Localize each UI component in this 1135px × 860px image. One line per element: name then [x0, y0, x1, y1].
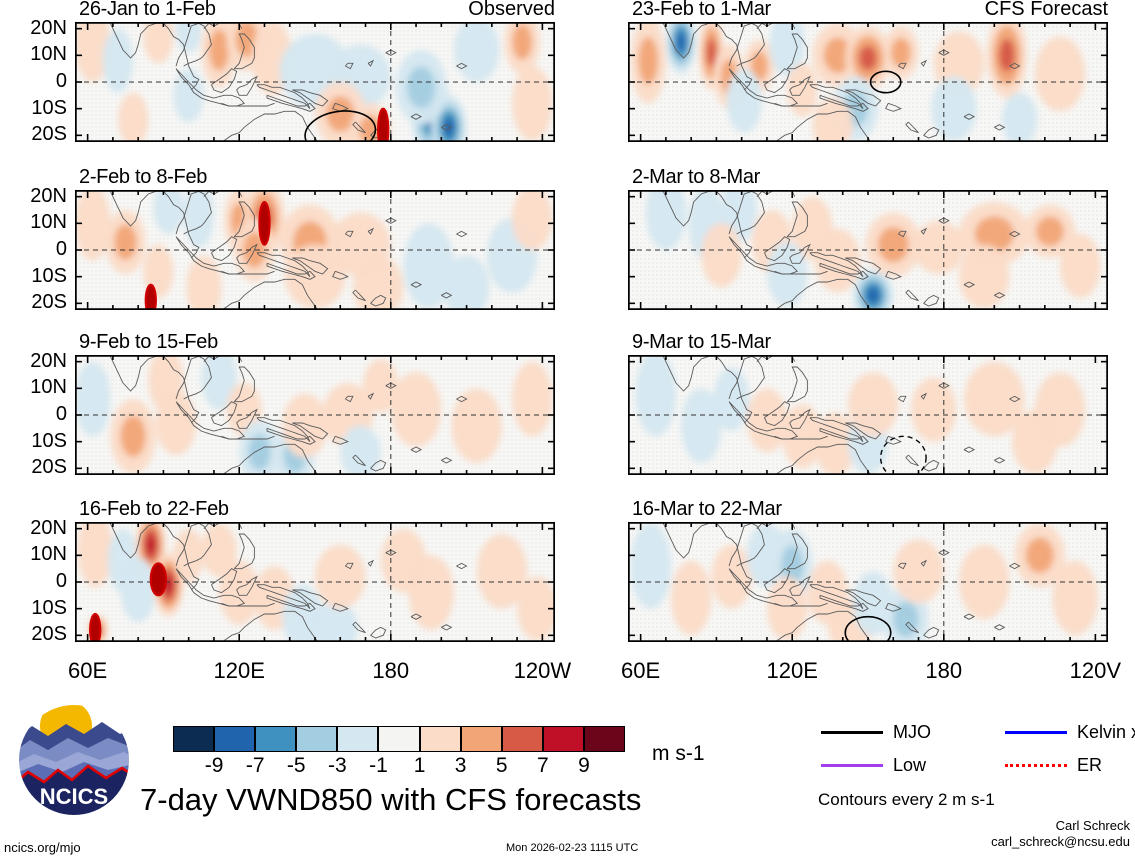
legend-line-er: [1005, 764, 1067, 767]
y-tick-label: 20N: [0, 350, 67, 373]
colorbar-swatch: [214, 726, 255, 752]
y-tick-label: 10N: [0, 543, 67, 566]
x-tick-label: 180: [902, 658, 986, 684]
colorbar-swatch: [378, 726, 419, 752]
x-tick-label: 120V: [1053, 658, 1135, 684]
y-tick-label: 20N: [0, 517, 67, 540]
colorbar-swatch: [337, 726, 378, 752]
y-tick-label: 0: [0, 403, 67, 426]
x-tick-label: 60E: [599, 658, 683, 684]
legend-label: ER: [1077, 755, 1102, 776]
colorbar-swatch: [296, 726, 337, 752]
map-panel: [75, 22, 555, 142]
x-tick-label: 180: [349, 658, 433, 684]
er-contour: [90, 614, 100, 642]
colorbar-units: m s-1: [652, 742, 705, 766]
legend-line-kelvin-x2: [1005, 731, 1067, 734]
y-tick-label: 0: [0, 238, 67, 261]
y-tick-label: 20N: [0, 185, 67, 208]
y-tick-label: 0: [0, 570, 67, 593]
map-panel: [75, 190, 555, 310]
panel-title: 9-Mar to 15-Mar: [632, 331, 771, 354]
map-panel: [628, 522, 1108, 642]
er-contour: [146, 285, 156, 310]
panel-title: 16-Mar to 22-Mar: [632, 498, 782, 521]
legend-line-low: [821, 764, 883, 767]
x-tick-label: 120E: [197, 658, 281, 684]
legend-label: Low: [893, 755, 926, 776]
colorbar-swatch: [461, 726, 502, 752]
y-tick-label: 20S: [0, 623, 67, 646]
svg-text:NCICS: NCICS: [40, 784, 108, 809]
er-contour: [378, 109, 388, 142]
main-title: 7-day VWND850 with CFS forecasts: [140, 782, 641, 818]
x-tick-label: 120W: [500, 658, 584, 684]
legend-label: Kelvin x2: [1077, 722, 1135, 743]
colorbar-swatch: [502, 726, 543, 752]
y-tick-label: 20S: [0, 456, 67, 479]
contour-note: Contours every 2 m s-1: [818, 790, 995, 810]
y-tick-label: 20S: [0, 123, 67, 146]
map-panel: [75, 522, 555, 642]
y-tick-label: 0: [0, 70, 67, 93]
x-tick-label: 60E: [46, 658, 130, 684]
colorbar-swatch: [173, 726, 214, 752]
colorbar: [173, 726, 625, 752]
ncics-logo: NCICS: [14, 700, 134, 820]
colorbar-swatch: [543, 726, 584, 752]
y-tick-label: 20S: [0, 291, 67, 314]
er-contour: [151, 563, 166, 595]
colorbar-swatch: [255, 726, 296, 752]
map-panel: [628, 190, 1108, 310]
y-tick-label: 10N: [0, 376, 67, 399]
map-panel: [628, 355, 1108, 475]
x-tick-label: 120E: [750, 658, 834, 684]
timestamp: Mon 2026-02-23 1115 UTC: [506, 842, 638, 854]
y-tick-label: 10N: [0, 211, 67, 234]
site-link: ncics.org/mjo: [4, 840, 81, 855]
panel-title: 9-Feb to 15-Feb: [79, 331, 218, 354]
panel-title: 2-Mar to 8-Mar: [632, 166, 760, 189]
legend-line-mjo: [821, 731, 883, 734]
legend-label: MJO: [893, 722, 931, 743]
y-tick-label: 10S: [0, 430, 67, 453]
panel-title: 16-Feb to 22-Feb: [79, 498, 229, 521]
colorbar-tick-label: 9: [560, 754, 608, 778]
author-name: Carl Schreck: [935, 818, 1130, 833]
y-tick-label: 10S: [0, 597, 67, 620]
colorbar-swatch: [584, 726, 625, 752]
y-tick-label: 10N: [0, 43, 67, 66]
column-header: CFS Forecast: [628, 0, 1108, 21]
y-tick-label: 10S: [0, 265, 67, 288]
y-tick-label: 20N: [0, 17, 67, 40]
y-tick-label: 10S: [0, 97, 67, 120]
author-email: carl_schreck@ncsu.edu: [935, 834, 1130, 849]
map-panel: [75, 355, 555, 475]
panel-title: 2-Feb to 8-Feb: [79, 166, 207, 189]
colorbar-swatch: [420, 726, 461, 752]
map-panel: [628, 22, 1108, 142]
er-contour: [259, 202, 269, 245]
column-header: Observed: [75, 0, 555, 21]
